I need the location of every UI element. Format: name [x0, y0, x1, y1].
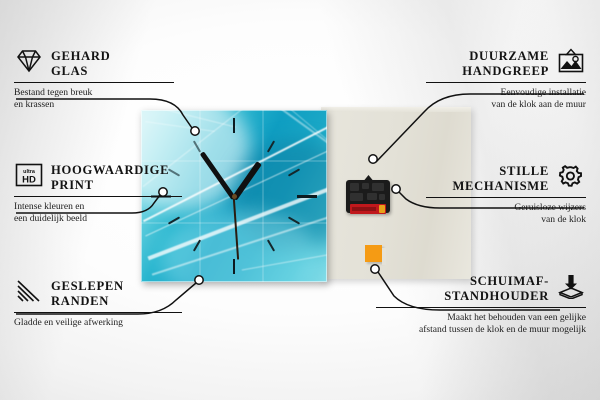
feature-gehard-glas: GEHARDGLAS Bestand tegen breuken krassen — [14, 48, 174, 110]
feature-description: Geruisloze wijzersvan de klok — [426, 202, 586, 225]
clock-tick-3 — [297, 195, 317, 198]
divider — [426, 197, 586, 198]
clock-tick-12 — [233, 118, 235, 133]
feature-hoogwaardige-print: ultra HD HOOGWAARDIGEPRINT Intense kleur… — [14, 162, 182, 224]
feature-title: HOOGWAARDIGEPRINT — [51, 163, 169, 191]
quartz-mechanism — [346, 175, 390, 213]
beveled-edge-icon — [14, 278, 44, 309]
feature-geslepen-randen: GESLEPENRANDEN Gladde en veilige afwerki… — [14, 278, 182, 329]
divider — [14, 312, 182, 313]
feature-title: STILLEMECHANISME — [452, 164, 549, 192]
feature-duurzame-handgreep: DUURZAMEHANDGREEP Eenvoudige installatie… — [426, 48, 586, 110]
feature-description: Bestand tegen breuken krassen — [14, 87, 174, 110]
divider — [426, 82, 586, 83]
press-pad-icon — [556, 273, 586, 304]
picture-frame-icon — [556, 48, 586, 79]
product-infographic: GEHARDGLAS Bestand tegen breuken krassen… — [0, 0, 600, 400]
mechanism-body — [346, 180, 390, 213]
clock-tick-6 — [233, 259, 235, 274]
diamond-icon — [14, 48, 44, 79]
feature-title: SCHUIMAF-STANDHOUDER — [444, 274, 549, 302]
feature-title: GEHARDGLAS — [51, 49, 110, 77]
feature-description: Gladde en veilige afwerking — [14, 317, 182, 328]
divider — [14, 82, 174, 83]
feature-description: Intense kleuren eneen duidelijk beeld — [14, 201, 182, 224]
feature-title: DUURZAMEHANDGREEP — [462, 49, 549, 77]
gear-icon — [556, 163, 586, 194]
feature-description: Maakt het behouden van een gelijkeafstan… — [376, 312, 586, 335]
divider — [14, 196, 182, 197]
ultra-hd-icon: ultra HD — [14, 162, 44, 193]
clock-center-hub — [232, 194, 237, 199]
svg-text:HD: HD — [22, 175, 36, 186]
feature-title: GESLEPENRANDEN — [51, 279, 124, 307]
foam-spacer — [365, 245, 382, 262]
divider — [376, 307, 586, 308]
feature-schuimafstandhouder: SCHUIMAF-STANDHOUDER Maakt het behouden … — [376, 273, 586, 335]
feature-description: Eenvoudige installatievan de klok aan de… — [426, 87, 586, 110]
feature-stille-mechanisme: STILLEMECHANISME Geruisloze wijzersvan d… — [426, 163, 586, 225]
mechanism-battery — [350, 204, 386, 214]
